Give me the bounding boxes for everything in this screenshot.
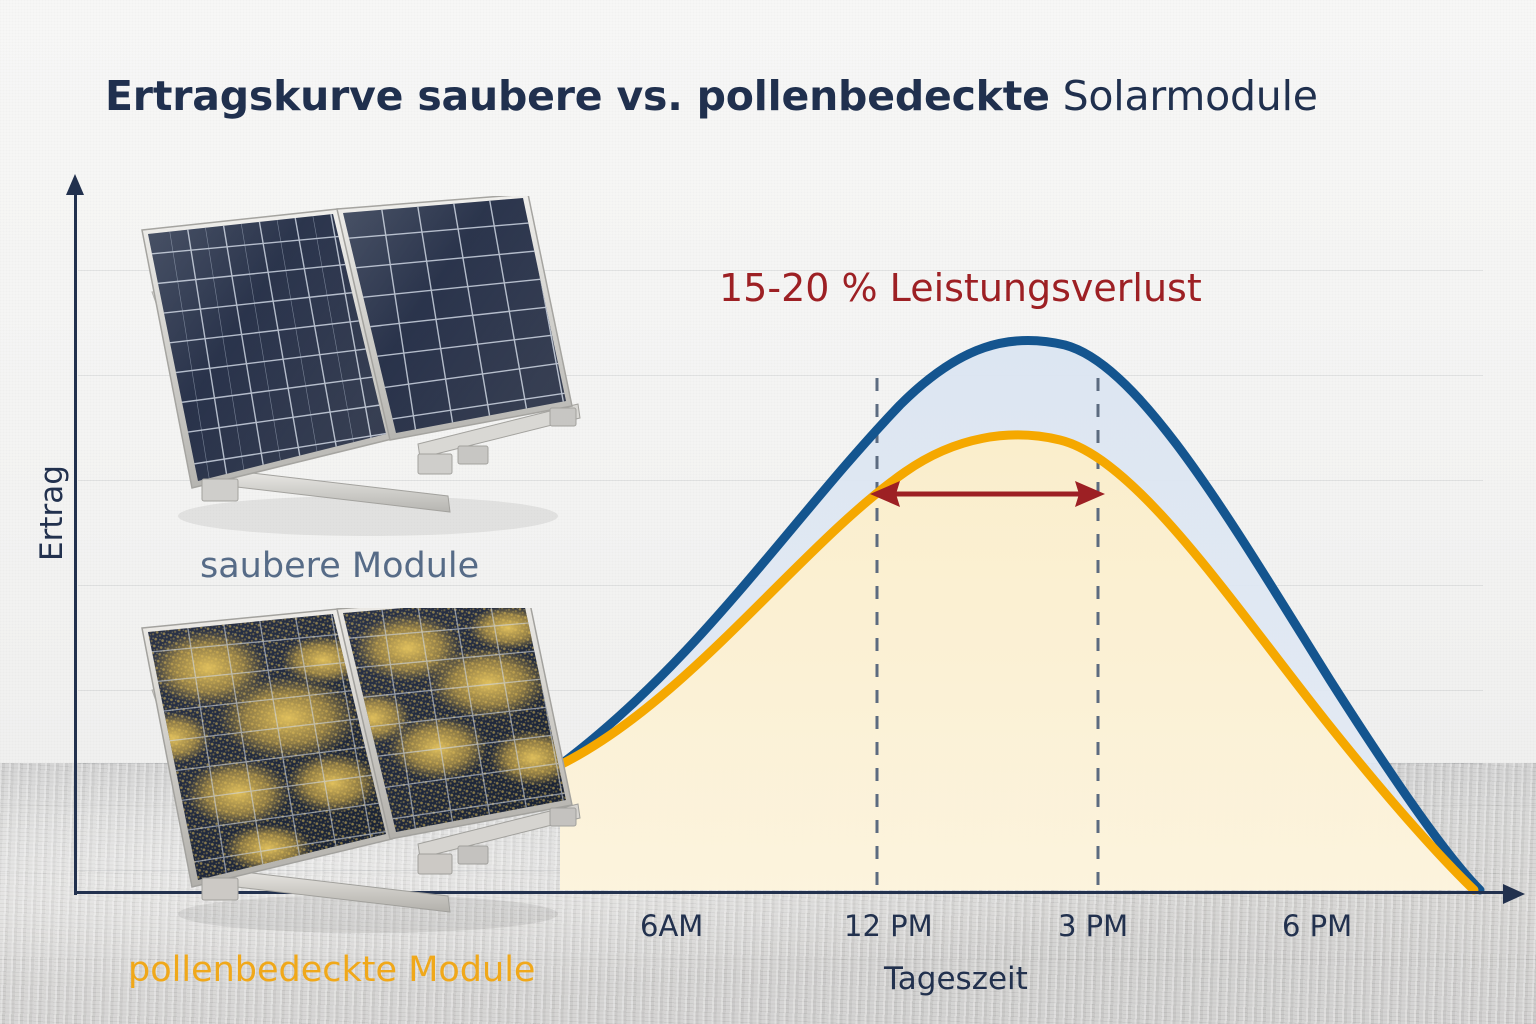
page-title: Ertragskurve saubere vs. pollenbedeckte … (105, 76, 1318, 117)
x-axis-label: Tageszeit (884, 961, 1028, 997)
infographic-canvas: Ertrag Tageszeit 6AM 12 PM 3 PM 6 PM (0, 0, 1536, 1024)
page-title-bold: Ertragskurve saubere vs. pollenbedeckte (105, 72, 1050, 120)
y-axis-arrow-icon (66, 174, 84, 195)
x-axis-arrow-icon (1503, 884, 1525, 904)
x-tick-6am: 6AM (640, 909, 703, 943)
page-title-light: Solarmodule (1050, 72, 1318, 120)
x-tick-12pm: 12 PM (844, 909, 933, 943)
loss-annotation-label: 15-20 % Leistungsverlust (719, 266, 1202, 310)
x-tick-6pm: 6 PM (1282, 909, 1352, 943)
x-tick-3pm: 3 PM (1058, 909, 1128, 943)
legend-label-pollen-modules: pollenbedeckte Module (128, 950, 535, 990)
pollen-solar-panel-photo (118, 608, 588, 938)
y-axis (74, 190, 77, 895)
legend-label-clean-modules: saubere Module (200, 546, 479, 586)
clean-solar-panel-photo (118, 196, 588, 546)
y-axis-label: Ertrag (34, 443, 70, 583)
